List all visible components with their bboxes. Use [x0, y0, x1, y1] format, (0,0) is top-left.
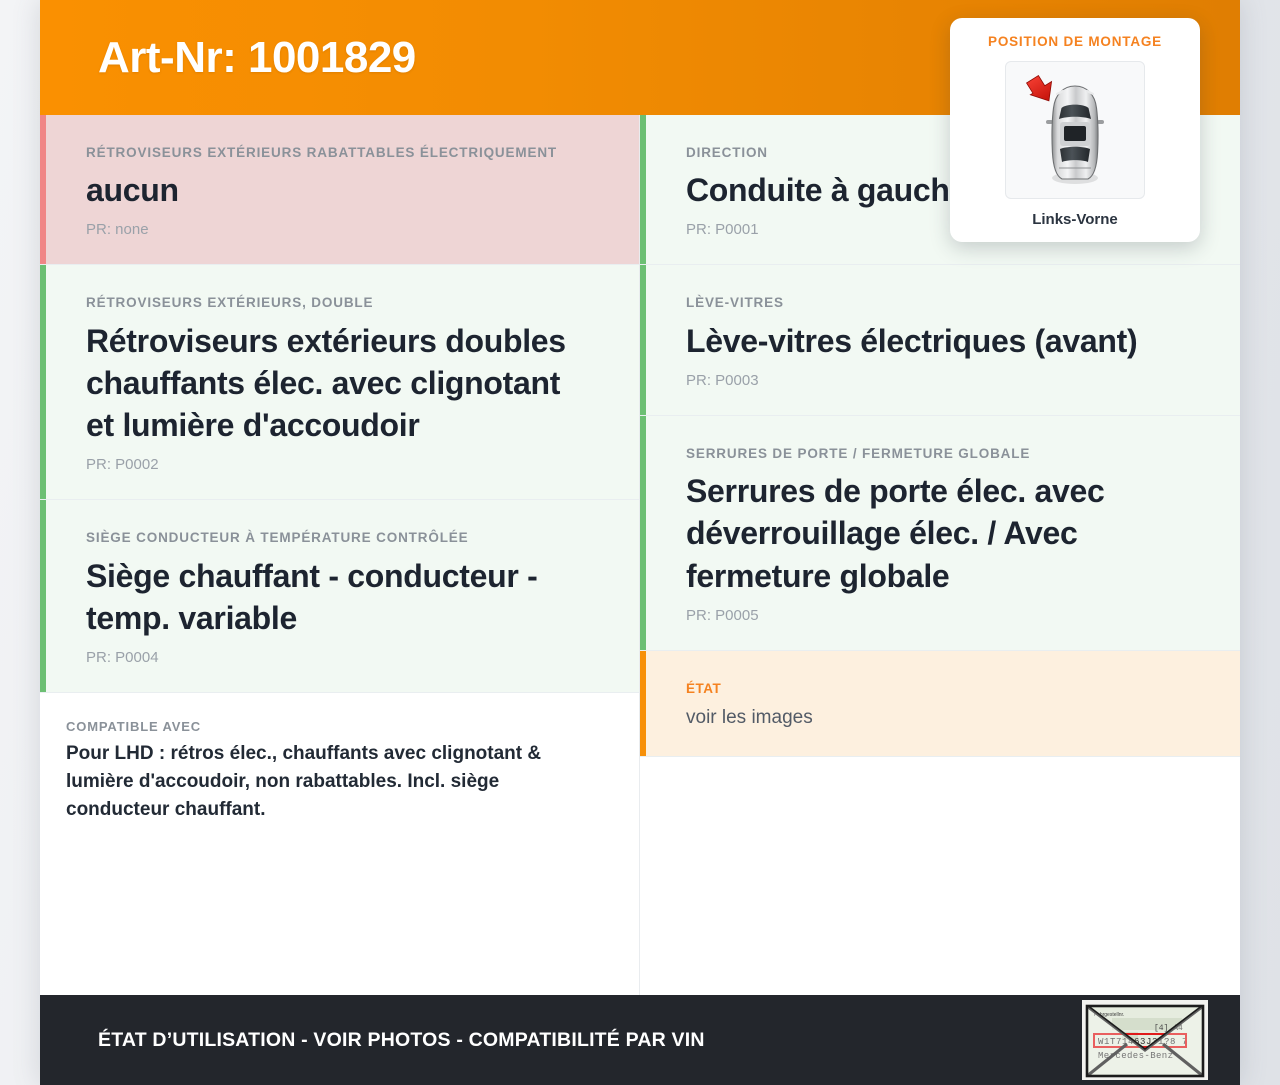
spec-value: Serrures de porte élec. avec déverrouill…	[686, 470, 1194, 597]
spec-row: SIÈGE CONDUCTEUR À TEMPÉRATURE CONTRÔLÉE…	[40, 500, 639, 693]
spec-label: SERRURES DE PORTE / FERMETURE GLOBALE	[686, 444, 1194, 464]
spec-row-etat: ÉTAT voir les images	[640, 651, 1240, 757]
right-column-filler	[640, 757, 1240, 995]
spec-row: RÉTROVISEURS EXTÉRIEURS, DOUBLE Rétrovis…	[40, 265, 639, 500]
compatible-with-section: COMPATIBLE AVEC Pour LHD : rétros élec.,…	[40, 693, 639, 850]
left-column: RÉTROVISEURS EXTÉRIEURS RABATTABLES ÉLEC…	[40, 115, 640, 995]
spec-row: LÈVE-VITRES Lève-vitres électriques (ava…	[640, 265, 1240, 415]
mounting-position-caption: Links-Vorne	[964, 211, 1186, 228]
spec-value: Rétroviseurs extérieurs doubles chauffan…	[86, 320, 593, 447]
footer-text: ÉTAT D’UTILISATION - VOIR PHOTOS - COMPA…	[98, 1029, 705, 1052]
compatible-with-text: Pour LHD : rétros élec., chauffants avec…	[66, 740, 606, 824]
spec-row: RÉTROVISEURS EXTÉRIEURS RABATTABLES ÉLEC…	[40, 115, 639, 265]
compatible-with-label: COMPATIBLE AVEC	[66, 719, 613, 734]
spec-row: SERRURES DE PORTE / FERMETURE GLOBALE Se…	[640, 416, 1240, 651]
spec-pr-code: PR: P0004	[86, 649, 593, 666]
spec-pr-code: PR: P0003	[686, 372, 1194, 389]
spec-label: RÉTROVISEURS EXTÉRIEURS, DOUBLE	[86, 293, 593, 313]
header-bar: Art-Nr: 1001829 POSITION DE MONTAGE	[40, 0, 1240, 115]
footer-bar: ÉTAT D’UTILISATION - VOIR PHOTOS - COMPA…	[40, 995, 1240, 1085]
spec-pr-code: PR: P0002	[86, 456, 593, 473]
spec-columns: RÉTROVISEURS EXTÉRIEURS RABATTABLES ÉLEC…	[40, 115, 1240, 995]
spec-value: voir les images	[686, 705, 1194, 730]
spec-value: Siège chauffant - conducteur - temp. var…	[86, 555, 593, 639]
spec-label: ÉTAT	[686, 679, 1194, 699]
left-column-filler	[40, 850, 639, 995]
spec-label: SIÈGE CONDUCTEUR À TEMPÉRATURE CONTRÔLÉE	[86, 528, 593, 548]
mounting-position-title: POSITION DE MONTAGE	[964, 34, 1186, 49]
spec-value: Lève-vitres électriques (avant)	[686, 320, 1194, 362]
envelope-vehicle-registration-vin-icon: Fahrgestellnr. [4] A4 W1T71463J31?8 7 Me…	[1082, 1000, 1208, 1080]
right-column: DIRECTION Conduite à gauche PR: P0001 LÈ…	[640, 115, 1240, 995]
spec-pr-code: PR: none	[86, 221, 593, 238]
spec-value: aucun	[86, 169, 593, 211]
product-sheet: Art-Nr: 1001829 POSITION DE MONTAGE	[40, 0, 1240, 1085]
spec-pr-code: PR: P0005	[686, 607, 1194, 624]
spec-label: RÉTROVISEURS EXTÉRIEURS RABATTABLES ÉLEC…	[86, 143, 593, 163]
mounting-position-card: POSITION DE MONTAGE	[950, 18, 1200, 242]
car-top-view-with-arrow-icon	[1005, 61, 1145, 199]
spec-label: LÈVE-VITRES	[686, 293, 1194, 313]
page-title: Art-Nr: 1001829	[98, 33, 416, 83]
